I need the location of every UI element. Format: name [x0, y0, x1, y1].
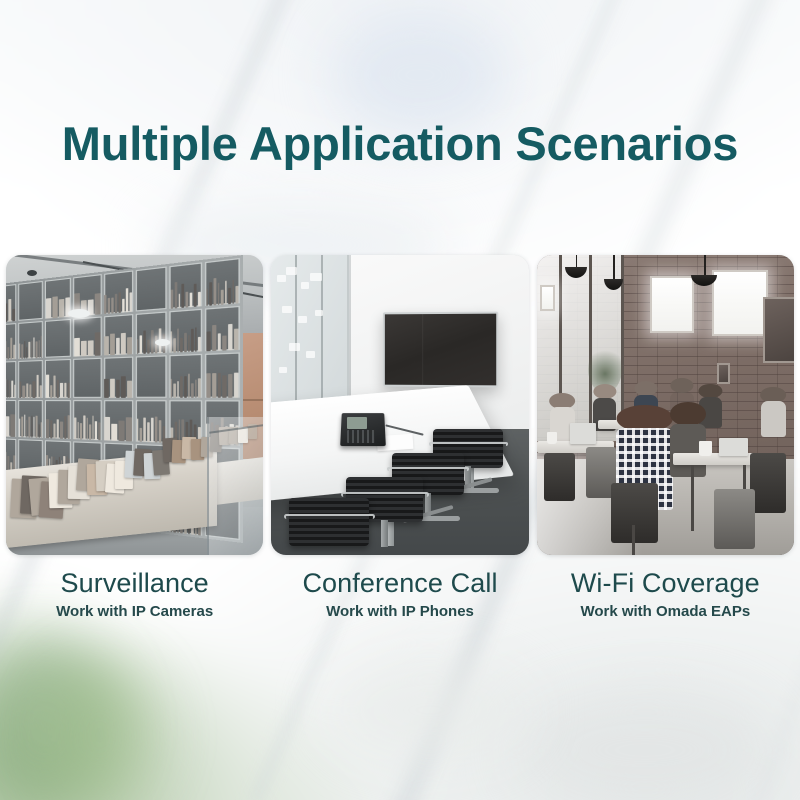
- bookshelf-cell: [6, 284, 16, 322]
- bookshelf-cell: [45, 359, 71, 398]
- bookshelf-cell: [18, 321, 43, 360]
- bookshelf-cell: [103, 270, 132, 313]
- bookshelf-cell: [73, 358, 101, 398]
- pendant-light-icon: [68, 309, 90, 318]
- bookshelf-cell: [169, 354, 202, 398]
- scenario-image-surveillance: [6, 255, 263, 555]
- caption-subtitle: Work with IP Cameras: [6, 603, 263, 621]
- caption-subtitle: Work with IP Phones: [271, 603, 528, 621]
- background-blur-blob: [330, 660, 530, 760]
- conference-room-photo: [271, 255, 528, 555]
- bookshelf-cell: [45, 278, 71, 319]
- ceiling-light-icon: [27, 270, 37, 276]
- scenario-image-conference-call: [271, 255, 528, 555]
- bookshelf-cell: [204, 305, 239, 351]
- bookshelf-cell: [18, 360, 43, 398]
- page-title: Multiple Application Scenarios: [0, 118, 800, 170]
- caption-title: Surveillance: [6, 568, 263, 600]
- bookshelf-cell: [18, 400, 43, 438]
- caption-wifi-coverage: Wi-Fi Coverage Work with Omada EAPs: [537, 568, 794, 621]
- caption-surveillance: Surveillance Work with IP Cameras: [6, 568, 263, 621]
- scenario-caption-row: Surveillance Work with IP Cameras Confer…: [6, 568, 794, 621]
- caption-conference-call: Conference Call Work with IP Phones: [271, 568, 528, 621]
- bookshelf-cell: [204, 353, 239, 398]
- bookshelf-cell: [135, 356, 166, 398]
- bookshelf-cell: [169, 262, 202, 308]
- bookshelf-cell: [6, 400, 16, 437]
- background-foliage: [40, 660, 160, 800]
- caption-subtitle: Work with Omada EAPs: [537, 603, 794, 621]
- bookshelf-cell: [6, 323, 16, 361]
- phone-keypad: [347, 430, 375, 442]
- bookstore-photo: [6, 255, 263, 555]
- caption-title: Wi-Fi Coverage: [537, 568, 794, 600]
- phone-screen: [347, 417, 367, 429]
- bookshelf-cell: [103, 357, 132, 398]
- bookshelf-cell: [18, 281, 43, 321]
- bookshelf-cell: [6, 361, 16, 398]
- bookshelf-cell: [135, 311, 166, 354]
- caption-title: Conference Call: [271, 568, 528, 600]
- ip-conference-phone: [341, 411, 385, 447]
- bookshelf-cell: [103, 314, 132, 356]
- bookshelf-cell: [103, 400, 132, 441]
- wall-mounted-tv: [383, 312, 498, 388]
- bookshelf-cell: [169, 308, 202, 353]
- scenario-image-wifi-coverage: [537, 255, 794, 555]
- scenario-card-row: [6, 255, 794, 555]
- bookshelf-cell: [45, 400, 71, 439]
- glass-railing: [207, 417, 264, 555]
- bookshelf-cell: [45, 318, 71, 358]
- bookshelf-cell: [135, 400, 166, 442]
- cafe-photo: [537, 255, 794, 555]
- background-blur-blob: [520, 690, 770, 800]
- bookshelf-cell: [73, 400, 101, 440]
- bookshelf-cell: [135, 267, 166, 312]
- bookshelf-cell: [204, 258, 239, 306]
- bookshelf-cell: [73, 316, 101, 357]
